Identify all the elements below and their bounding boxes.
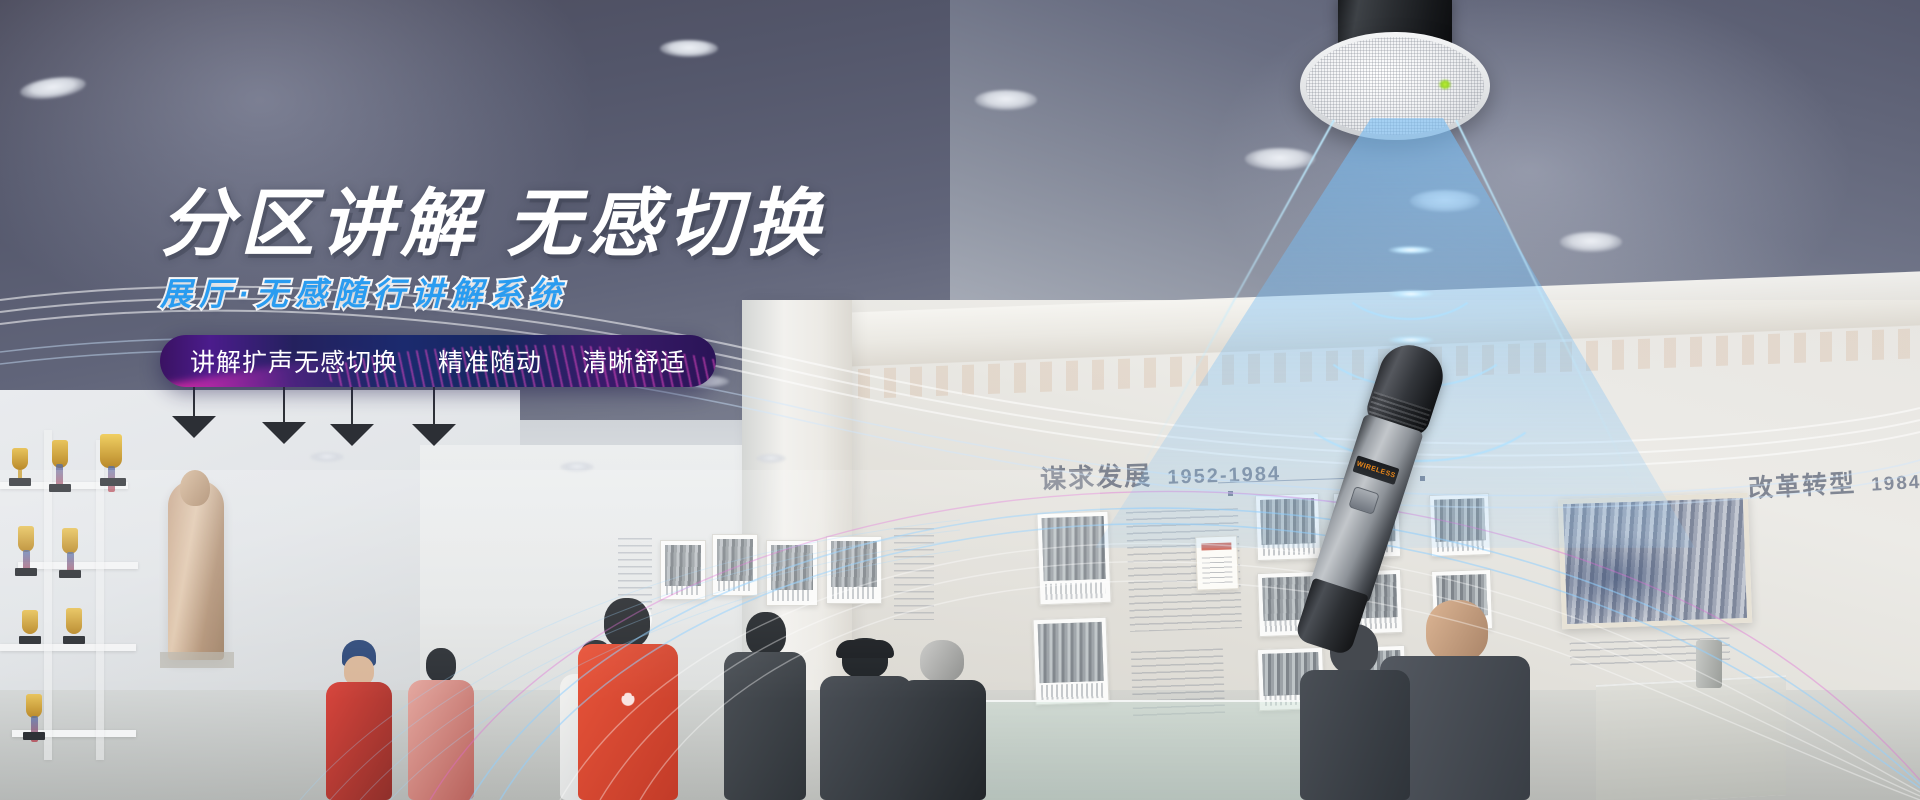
display-case-object [1696, 640, 1722, 688]
background-photo: 谋求发展 1952-1984 改革转型 1984-2010 [0, 0, 1920, 800]
pendant-lamp-icon [330, 376, 374, 456]
display-case [1596, 675, 1786, 800]
promo-banner: 谋求发展 1952-1984 改革转型 1984-2010 [0, 0, 1920, 800]
speaker-status-led-icon [1438, 80, 1452, 89]
downlight-icon [1245, 148, 1315, 170]
banner-copy: 分区讲解 无感切换 展厅·无感随行讲解系统 讲解扩声无感切换 精准随动 清晰舒适 [160, 185, 980, 387]
downlight-icon [756, 454, 786, 463]
haze-overlay [0, 470, 1100, 800]
exhibit-heading-2-text: 改革转型 [1748, 469, 1857, 503]
feature-item-2: 精准随动 [438, 343, 542, 379]
downlight-icon [1560, 232, 1622, 252]
exhibit-years-2-text: 1984-2010 [1871, 469, 1920, 496]
sound-wave-glow [1388, 290, 1434, 298]
downlight-icon [975, 90, 1037, 110]
downlight-icon [660, 40, 718, 57]
feature-list: 讲解扩声无感切换 精准随动 清晰舒适 [190, 343, 686, 379]
feature-item-3: 清晰舒适 [582, 343, 686, 379]
banner-subtitle: 展厅·无感随行讲解系统 [160, 269, 980, 315]
sound-wave-glow [1388, 246, 1434, 254]
banner-title: 分区讲解 无感切换 [160, 185, 980, 263]
feature-item-1: 讲解扩声无感切换 [190, 343, 398, 379]
feature-pill: 讲解扩声无感切换 精准随动 清晰舒适 [160, 335, 716, 387]
